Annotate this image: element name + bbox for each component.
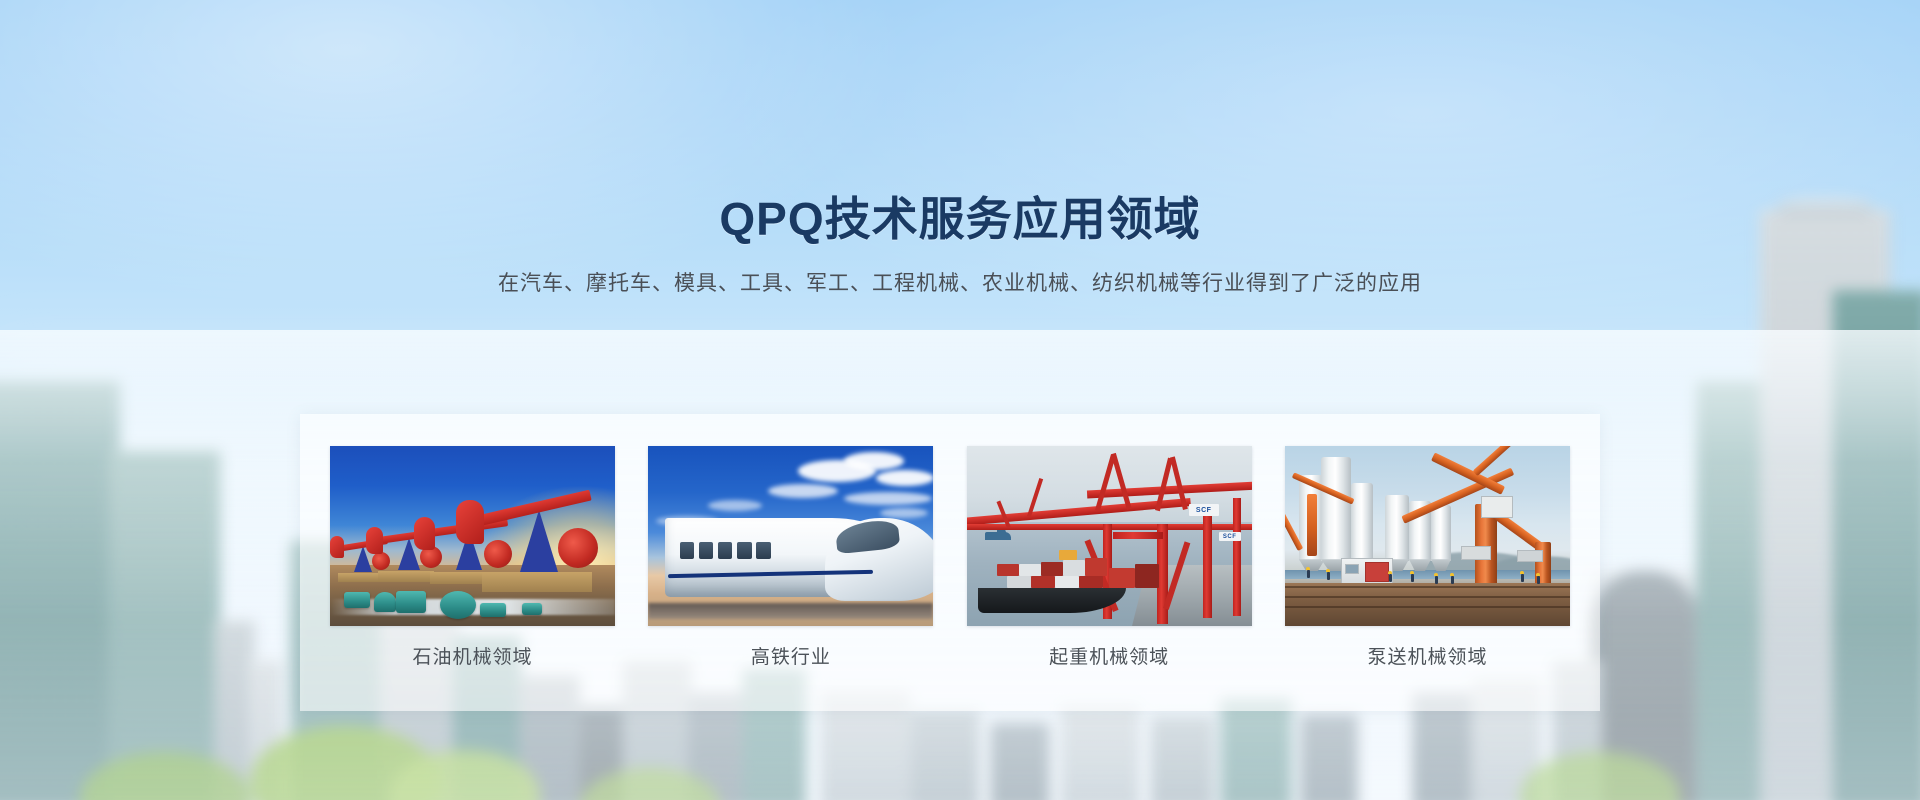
application-card-crane[interactable]: SCF SCF 起重机械领域 — [967, 446, 1252, 711]
concrete-pump-photo[interactable] — [1285, 446, 1570, 626]
application-card-caption: 高铁行业 — [648, 642, 933, 669]
application-card-caption: 泵送机械领域 — [1285, 642, 1570, 669]
application-cards-row: 石油机械领域 — [300, 414, 1600, 711]
application-card-caption: 起重机械领域 — [967, 642, 1252, 669]
oil-pumpjacks-photo[interactable] — [330, 446, 615, 626]
page-title: QPQ技术服务应用领域 — [0, 192, 1920, 246]
application-card-pump[interactable]: 泵送机械领域 — [1285, 446, 1570, 711]
application-card-oil[interactable]: 石油机械领域 — [330, 446, 615, 711]
application-fields-panel: 石油机械领域 — [300, 414, 1600, 711]
application-card-rail[interactable]: 高铁行业 — [648, 446, 933, 711]
header-block: QPQ技术服务应用领域 在汽车、摩托车、模具、工具、军工、工程机械、农业机械、纺… — [0, 0, 1920, 300]
port-gantry-crane-photo[interactable]: SCF SCF — [967, 446, 1252, 626]
high-speed-train-photo[interactable] — [648, 446, 933, 626]
application-card-caption: 石油机械领域 — [330, 642, 615, 669]
page-subtitle: 在汽车、摩托车、模具、工具、军工、工程机械、农业机械、纺织机械等行业得到了广泛的… — [0, 268, 1920, 300]
